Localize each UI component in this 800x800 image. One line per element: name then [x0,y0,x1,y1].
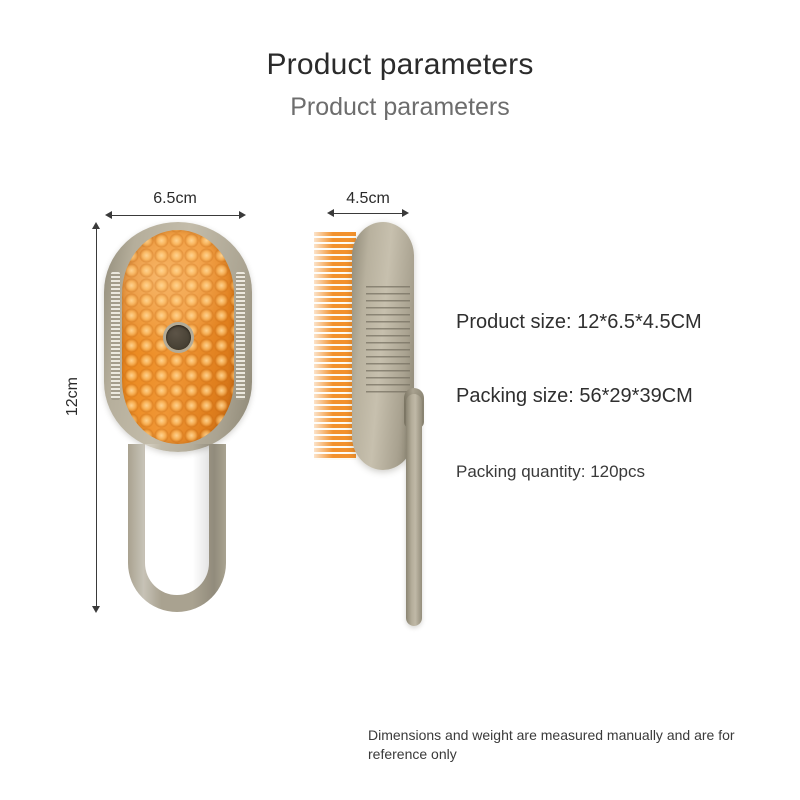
side-handle [406,394,422,626]
footer-disclaimer: Dimensions and weight are measured manua… [368,726,788,764]
dimension-arrow-height [92,222,101,613]
loop-handle [128,444,226,612]
dimension-arrow-depth [327,209,409,218]
spec-packing-quantity: Packing quantity: 120pcs [456,462,645,482]
side-body [352,222,414,470]
product-front-view [104,222,252,612]
dimension-label-height: 12cm [64,377,82,416]
arrow-shaft [331,213,405,214]
arrow-head-right-icon [402,209,409,217]
dimension-arrow-width [105,211,246,220]
arrow-head-right-icon [239,211,246,219]
dimension-label-depth: 4.5cm [346,190,390,208]
spray-nozzle-hole [166,325,191,350]
comb-teeth-left [111,272,120,400]
dimension-label-width: 6.5cm [153,190,197,208]
comb-teeth-right [236,272,245,400]
brush-head-frame [104,222,252,452]
side-body-ribbing [366,286,410,398]
product-parameters-page: Product parameters Product parameters 6.… [0,0,800,800]
page-title: Product parameters [0,48,800,82]
arrow-shaft [109,215,242,216]
page-subtitle: Product parameters [0,93,800,122]
spec-product-size: Product size: 12*6.5*4.5CM [456,311,702,334]
side-bristles [314,232,356,460]
arrow-head-down-icon [92,606,100,613]
spec-packing-size: Packing size: 56*29*39CM [456,385,693,408]
arrow-shaft [96,226,97,609]
product-side-view [300,222,450,622]
